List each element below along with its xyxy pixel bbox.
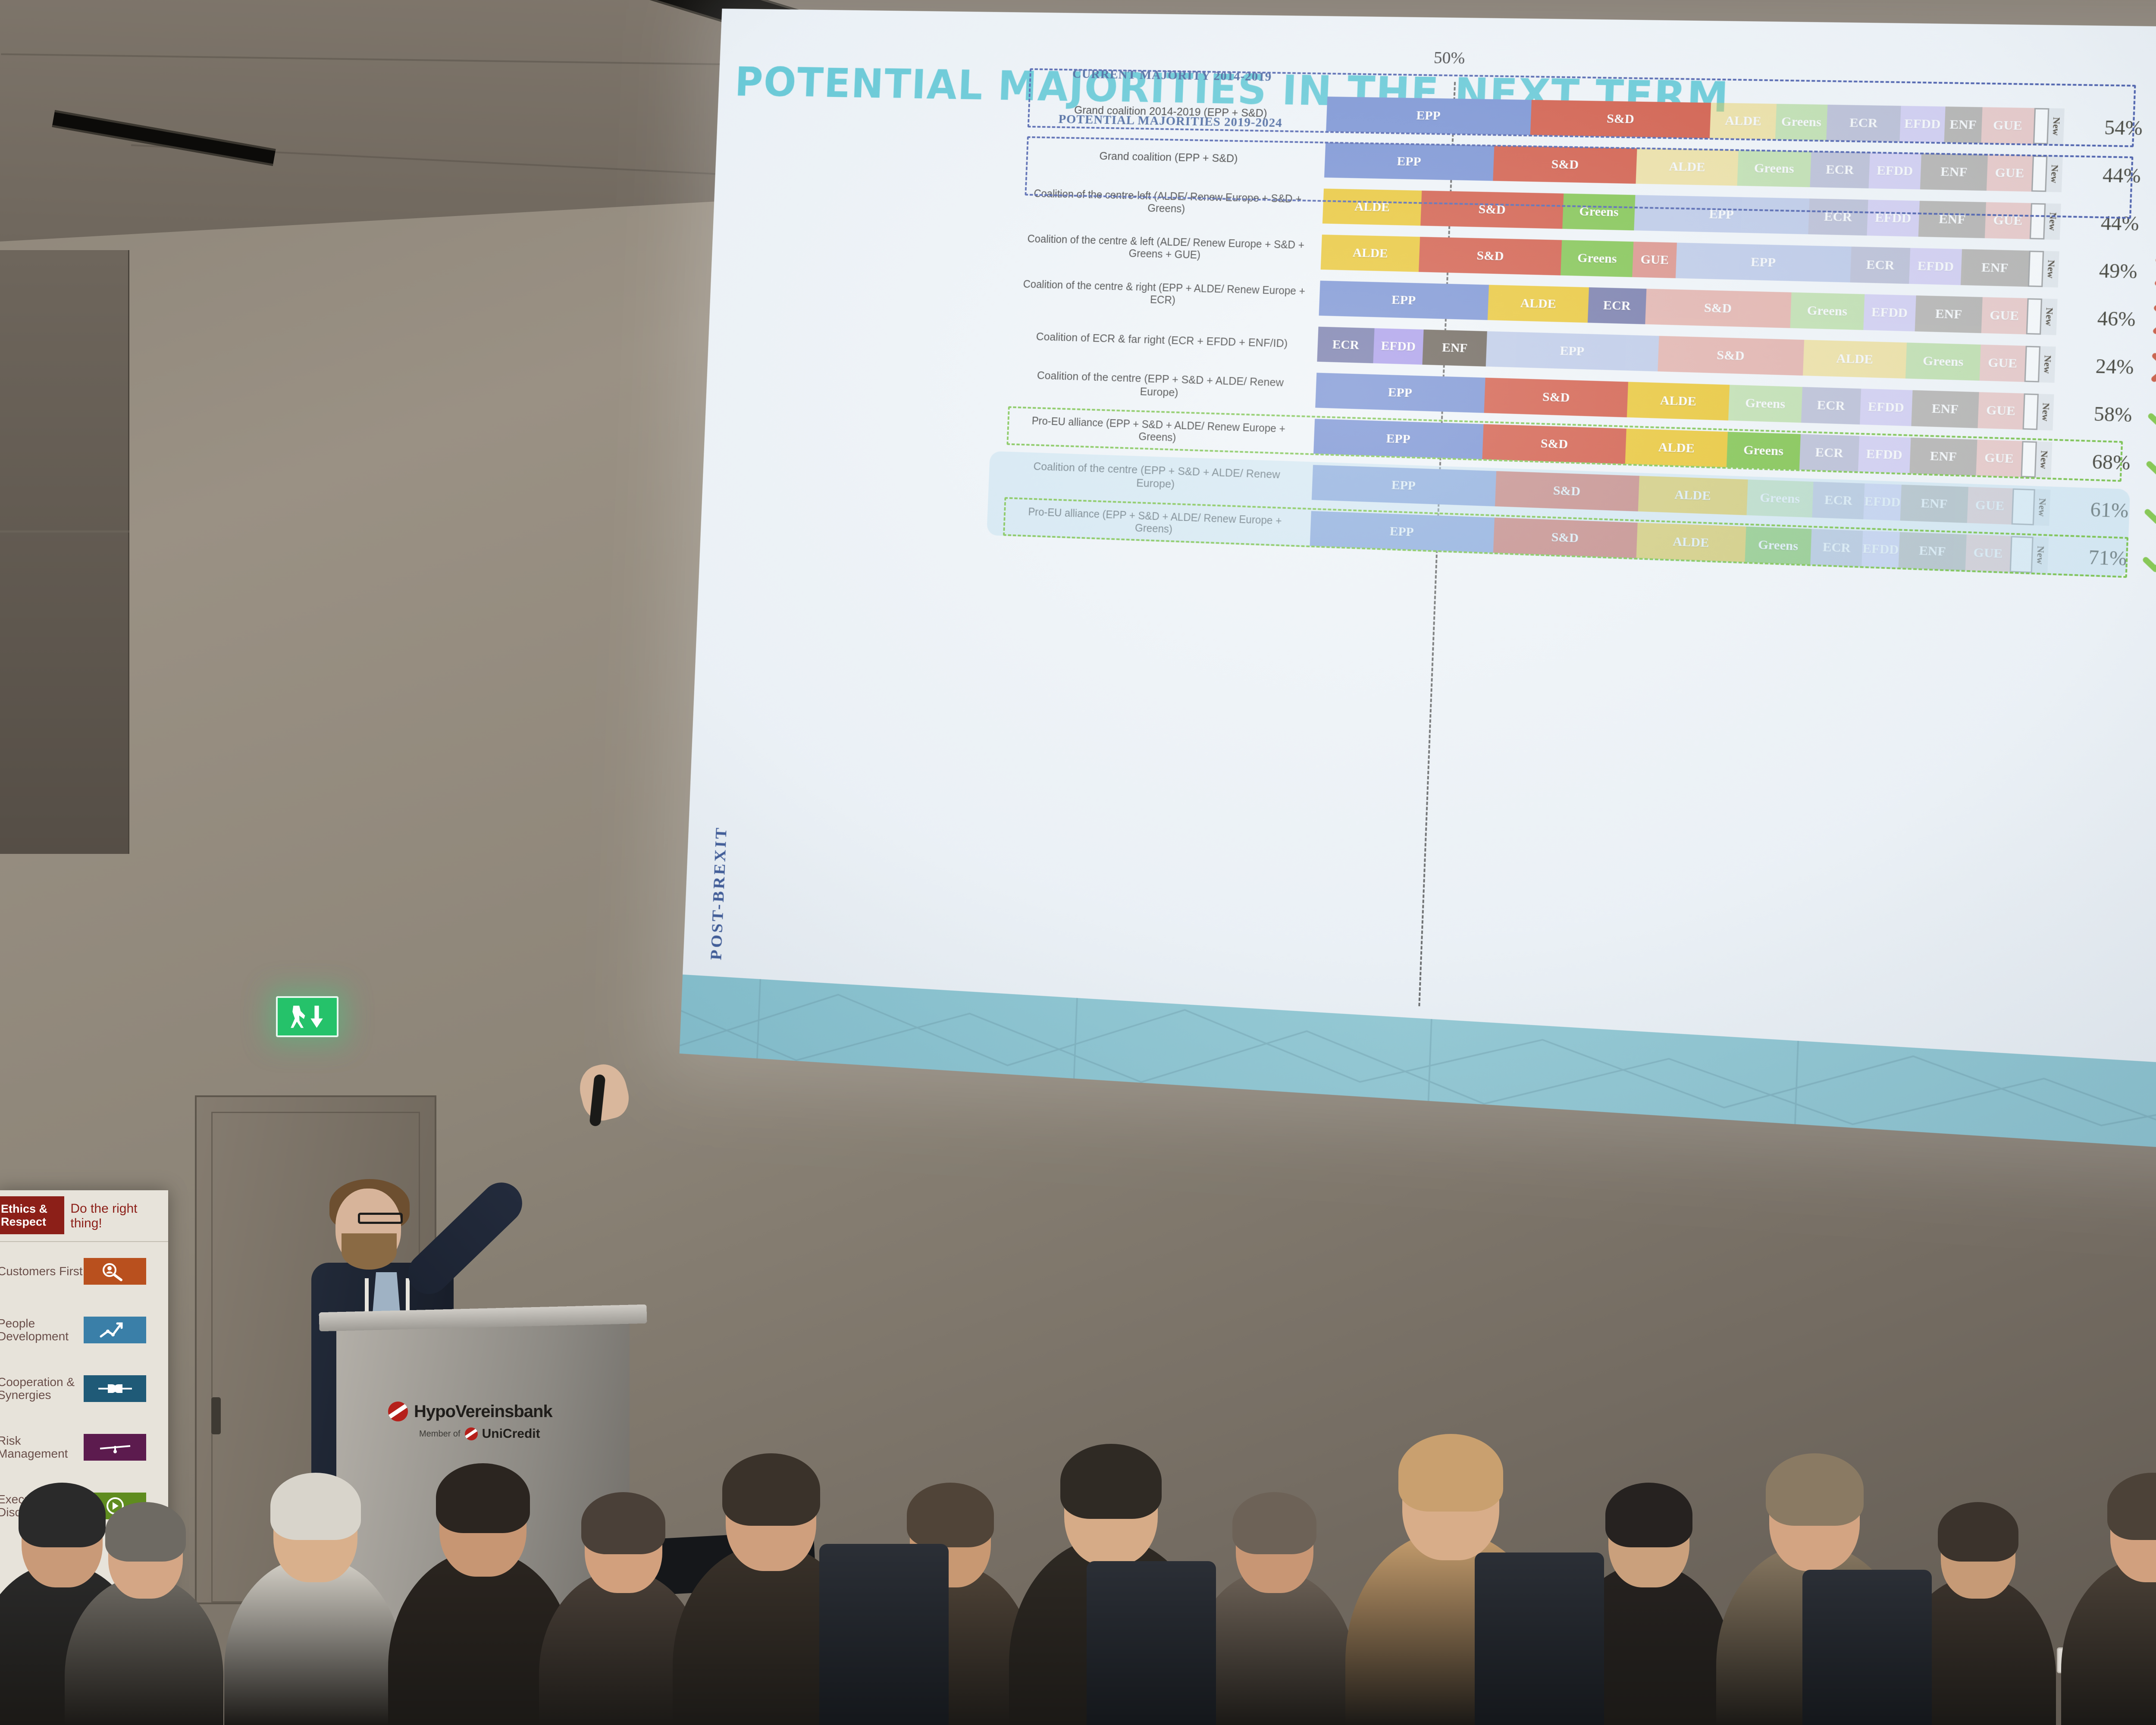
bar-segment-enf: ENF bbox=[1915, 295, 1983, 333]
bar-segment-enf: ENF bbox=[1918, 201, 1987, 238]
down-arrow-icon bbox=[310, 1006, 324, 1028]
bar-segment-alde: ALDE bbox=[1322, 188, 1422, 226]
majority-percent: 68% bbox=[2049, 448, 2131, 474]
bar-segment-epp: EPP bbox=[1319, 281, 1489, 320]
majority-percent: 58% bbox=[2050, 401, 2133, 427]
bar-segment-epp: EPP bbox=[1324, 143, 1495, 181]
bar-segment-ecr: ECR bbox=[1588, 287, 1646, 324]
bar-segment-greens: Greens bbox=[1775, 104, 1828, 141]
post-brexit-label: POST-BREXIT bbox=[706, 825, 730, 960]
audience-member bbox=[224, 1433, 404, 1725]
chair bbox=[1087, 1561, 1216, 1725]
chart-row-label: Coalition of ECR & far right (ECR + EFDD… bbox=[1019, 329, 1305, 351]
bar-segment-gue: GUE bbox=[1965, 534, 2011, 572]
bar-segment-gue: GUE bbox=[1985, 202, 2031, 239]
bar-segment-sandd: S&D bbox=[1421, 191, 1564, 229]
audience-hair bbox=[581, 1492, 665, 1554]
audience-hair bbox=[2107, 1473, 2156, 1540]
chart-row-label: Pro-EU alliance (EPP + S&D + ALDE/ Renew… bbox=[1012, 505, 1299, 540]
majority-percent: 44% bbox=[2059, 163, 2141, 188]
bar-segment-sandd: S&D bbox=[1493, 517, 1637, 558]
bar-segment-greens: Greens bbox=[1561, 240, 1633, 277]
cross-icon bbox=[2154, 158, 2156, 194]
bar-segment-sandd: S&D bbox=[1482, 424, 1626, 464]
majority-percent: 61% bbox=[2047, 496, 2129, 522]
poster-value-row: Customers First bbox=[0, 1242, 168, 1301]
bar-segment-enf: ENF bbox=[1920, 154, 1988, 191]
audience-member bbox=[65, 1467, 223, 1725]
bar-segment-enf: ENF bbox=[1422, 329, 1487, 367]
audience-hair bbox=[1766, 1453, 1864, 1526]
audience-hair bbox=[105, 1502, 185, 1562]
presenter-beard bbox=[342, 1233, 397, 1270]
bar-segment-epp: EPP bbox=[1313, 419, 1484, 459]
bar-segment-gue: GUE bbox=[1981, 297, 2028, 334]
bar-segment-efdd: EFDD bbox=[1863, 294, 1916, 331]
check-icon bbox=[2143, 445, 2156, 482]
check-icon bbox=[2145, 398, 2156, 434]
bar-segment-efdd: EFDD bbox=[1867, 200, 1920, 237]
audience-hair bbox=[1060, 1444, 1162, 1519]
check-icon bbox=[2141, 493, 2156, 530]
bar-segment-efdd: EFDD bbox=[1868, 153, 1921, 189]
chart-row-label: Coalition of the centre & right (EPP + A… bbox=[1021, 278, 1307, 310]
bar-segment-enf: ENF bbox=[1900, 485, 1968, 523]
emergency-exit-sign bbox=[276, 996, 338, 1037]
bar-segment-ni bbox=[2010, 536, 2034, 573]
bar-segment-sandd: S&D bbox=[1495, 471, 1639, 511]
chart-rows: CURRENT MAJORITY 2014-2019Grand coalitio… bbox=[761, 82, 2156, 592]
audience-hair bbox=[270, 1473, 361, 1540]
running-person-icon bbox=[291, 1006, 305, 1028]
audience-member bbox=[2061, 1433, 2156, 1725]
bar-segment-efdd: EFDD bbox=[1863, 483, 1902, 521]
bar-segment-alde: ALDE bbox=[1627, 382, 1730, 420]
glasses-icon bbox=[358, 1213, 403, 1224]
stacked-bar: EPPS&DALDEGreensECREFDDENFGUENew bbox=[1326, 97, 2065, 144]
bar-segment-alde: ALDE bbox=[1636, 148, 1739, 186]
wall-panel bbox=[0, 250, 129, 854]
bar-segment-ni bbox=[2033, 108, 2049, 144]
bar-segment-ecr: ECR bbox=[1810, 529, 1863, 567]
bar-segment-greens: Greens bbox=[1727, 432, 1801, 470]
audience-hair bbox=[436, 1463, 530, 1533]
slide-canvas: POTENTIAL MAJORITIES IN THE NEXT TERM 50… bbox=[680, 9, 2156, 1160]
chart-row-label: Coalition of the centre & left (ALDE/ Re… bbox=[1022, 233, 1309, 264]
bar-segment-ecr: ECR bbox=[1850, 247, 1911, 284]
bar-segment-enf: ENF bbox=[1899, 532, 1967, 571]
bar-segment-alde: ALDE bbox=[1321, 235, 1420, 272]
bar-segment-ecr: ECR bbox=[1826, 105, 1901, 142]
bar-segment-ni bbox=[2024, 346, 2040, 383]
bar-segment-ecr: ECR bbox=[1810, 151, 1870, 188]
chair bbox=[1475, 1552, 1604, 1725]
majority-percent: 71% bbox=[2045, 544, 2127, 570]
bar-segment-gue: GUE bbox=[1976, 439, 2022, 477]
bar-segment-gue: GUE bbox=[1987, 155, 2033, 192]
bar-segment-gue: GUE bbox=[1981, 107, 2034, 144]
bar-segment-efdd: EFDD bbox=[1373, 328, 1423, 365]
majority-percent: 54% bbox=[2061, 115, 2143, 139]
bar-segment-greens: Greens bbox=[1745, 527, 1811, 565]
bar-segment-efdd: EFDD bbox=[1899, 106, 1945, 142]
chart-row-label: Grand coalition (EPP + S&D) bbox=[1026, 148, 1313, 166]
bar-segment-ni bbox=[2028, 251, 2044, 287]
bar-segment-enf: ENF bbox=[1911, 390, 1979, 428]
bar-segment-greens: Greens bbox=[1905, 342, 1981, 380]
poster-badge: Ethics & Respect bbox=[0, 1196, 64, 1234]
bar-segment-ni bbox=[2026, 298, 2042, 335]
bar-segment-gue: GUE bbox=[1967, 487, 2013, 524]
bar-segment-efdd: EFDD bbox=[1860, 389, 1913, 426]
chart-row-label: Coalition of the centre (EPP + S&D + ALD… bbox=[1013, 459, 1300, 495]
threshold-label: 50% bbox=[1433, 47, 1465, 68]
bar-segment-greens: Greens bbox=[1746, 480, 1813, 517]
stacked-bar: EPPS&DALDEGreensECREFDDENFGUENew bbox=[1324, 143, 2063, 192]
chart-row-label: Coalition of the centre-left (ALDE/ Rene… bbox=[1024, 187, 1311, 218]
cross-icon bbox=[2147, 350, 2156, 386]
bar-segment-alde: ALDE bbox=[1625, 429, 1728, 467]
bar-segment-gue: GUE bbox=[1633, 241, 1677, 278]
bar-segment-ecr: ECR bbox=[1801, 387, 1861, 424]
bar-segment-greens: Greens bbox=[1728, 385, 1802, 423]
audience-hair bbox=[1605, 1483, 1693, 1547]
audience-hair bbox=[722, 1453, 820, 1526]
bar-segment-epp: EPP bbox=[1312, 465, 1496, 506]
bar-segment-gue: GUE bbox=[1978, 392, 2024, 430]
audience-hair bbox=[1938, 1502, 2018, 1562]
bar-segment-ecr: ECR bbox=[1812, 482, 1865, 519]
bar-segment-epp: EPP bbox=[1676, 243, 1852, 282]
bar-segment-enf: ENF bbox=[1944, 107, 1982, 143]
bar-segment-greens: Greens bbox=[1737, 150, 1811, 187]
chart-section-head: CURRENT MAJORITY 2014-2019 bbox=[1029, 66, 1316, 85]
projection-screen: POTENTIAL MAJORITIES IN THE NEXT TERM 50… bbox=[680, 9, 2156, 1160]
bar-segment-alde: ALDE bbox=[1638, 476, 1748, 515]
bar-segment-sandd: S&D bbox=[1484, 378, 1628, 417]
chair bbox=[819, 1544, 949, 1725]
bar-segment-enf: ENF bbox=[1961, 249, 2029, 287]
chair bbox=[1802, 1570, 1932, 1725]
bar-segment-greens: Greens bbox=[1563, 194, 1636, 231]
audience-hair bbox=[1232, 1492, 1316, 1554]
audience-shoulders bbox=[224, 1557, 404, 1725]
audience-shoulders bbox=[65, 1576, 223, 1725]
bar-segment-sandd: S&D bbox=[1658, 336, 1804, 376]
wall-seam bbox=[0, 530, 129, 533]
cross-icon bbox=[2149, 302, 2156, 339]
bar-segment-sandd: S&D bbox=[1493, 146, 1637, 184]
bar-segment-epp: EPP bbox=[1634, 195, 1809, 234]
bar-segment-ecr: ECR bbox=[1808, 198, 1868, 235]
majorities-chart: 50% CURRENT MAJORITY 2014-2019Grand coal… bbox=[742, 26, 2156, 1079]
bar-segment-efdd: EFDD bbox=[1909, 248, 1962, 285]
cross-icon bbox=[2152, 206, 2156, 242]
majority-percent: 46% bbox=[2054, 305, 2136, 331]
bar-segment-gue: GUE bbox=[1980, 345, 2026, 382]
magnifier-person-icon bbox=[84, 1258, 146, 1285]
cross-icon bbox=[2150, 254, 2156, 290]
poster-tagline: Do the right thing! bbox=[64, 1196, 164, 1230]
audience-hair bbox=[907, 1483, 994, 1547]
audience-shoulders bbox=[2061, 1557, 2156, 1725]
bar-segment-epp: EPP bbox=[1315, 373, 1485, 413]
bar-segment-ni bbox=[2012, 488, 2035, 525]
bar-segment-enf: ENF bbox=[1909, 438, 1977, 476]
bar-segment-ni bbox=[2021, 441, 2037, 478]
chart-row-label: Coalition of the centre (EPP + S&D + ALD… bbox=[1017, 368, 1304, 403]
bar-segment-epp: EPP bbox=[1486, 331, 1659, 371]
bar-segment-epp: EPP bbox=[1326, 97, 1532, 135]
bar-segment-efdd: EFDD bbox=[1858, 436, 1911, 474]
bar-segment-alde: ALDE bbox=[1710, 103, 1777, 139]
majority-percent: 44% bbox=[2057, 210, 2140, 235]
bar-segment-ecr: ECR bbox=[1799, 434, 1859, 472]
bar-segment-greens: Greens bbox=[1790, 292, 1865, 330]
bar-segment-sandd: S&D bbox=[1530, 100, 1711, 138]
bar-segment-ni bbox=[2022, 393, 2039, 430]
bar-segment-efdd: EFDD bbox=[1861, 531, 1900, 568]
screenshot-root: Ethics & Respect Do the right thing! Cus… bbox=[0, 0, 2156, 1725]
bar-segment-ni bbox=[2031, 156, 2048, 192]
majority-percent: 24% bbox=[2052, 353, 2134, 379]
audience bbox=[0, 1337, 2156, 1725]
bar-segment-alde: ALDE bbox=[1636, 523, 1746, 562]
bar-segment-alde: ALDE bbox=[1488, 285, 1589, 323]
chart-row-label: Pro-EU alliance (EPP + S&D + ALDE/ Renew… bbox=[1015, 414, 1302, 448]
bar-segment-sandd: S&D bbox=[1645, 289, 1791, 328]
bar-segment-epp: EPP bbox=[1310, 511, 1495, 553]
bar-segment-alde: ALDE bbox=[1803, 340, 1907, 379]
bar-segment-ni bbox=[2030, 203, 2046, 240]
majority-percent: 49% bbox=[2056, 257, 2138, 283]
audience-hair bbox=[1398, 1434, 1503, 1512]
bar-segment-ecr: ECR bbox=[1317, 327, 1374, 364]
bar-segment-sandd: S&D bbox=[1419, 237, 1562, 275]
check-icon bbox=[2140, 541, 2156, 578]
poster-value-label: Customers First bbox=[0, 1265, 84, 1278]
